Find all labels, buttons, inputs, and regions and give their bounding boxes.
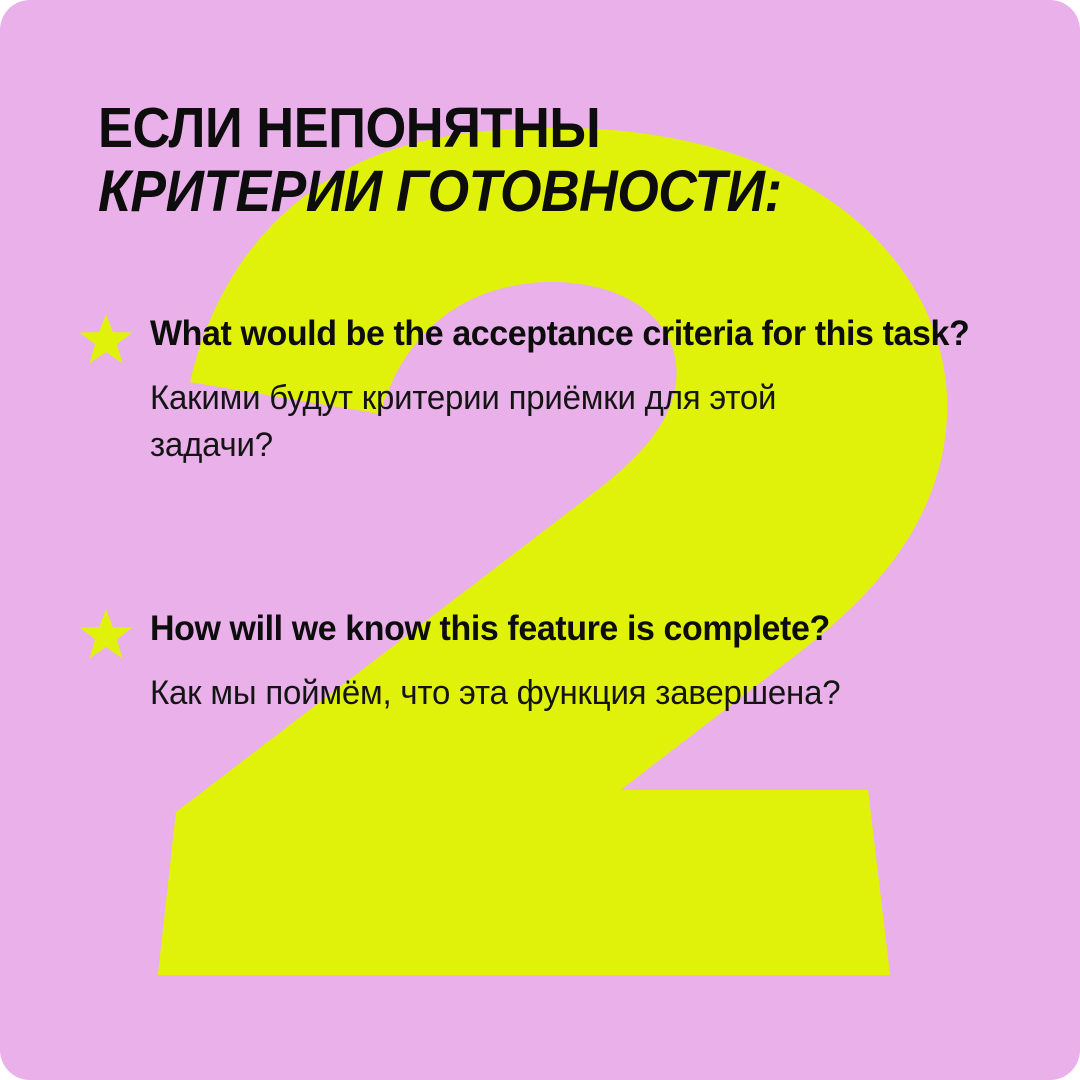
star-icon [78, 607, 134, 663]
star-icon [78, 312, 134, 368]
question-english: How will we know this feature is complet… [150, 605, 1004, 652]
question-russian: Какими будут критерии приёмки для этой з… [150, 375, 887, 469]
title-line-2: КРИТЕРИИ ГОТОВНОСТИ: [98, 160, 926, 224]
page-title: ЕСЛИ НЕПОНЯТНЫ КРИТЕРИИ ГОТОВНОСТИ: [98, 96, 998, 224]
question-text-group: What would be the acceptance criteria fo… [150, 310, 1048, 469]
question-english: What would be the acceptance criteria fo… [150, 310, 1004, 357]
question-item: What would be the acceptance criteria fo… [78, 310, 1048, 469]
title-line-1: ЕСЛИ НЕПОНЯТНЫ [98, 96, 926, 160]
card-root: ЕСЛИ НЕПОНЯТНЫ КРИТЕРИИ ГОТОВНОСТИ: What… [0, 0, 1080, 1080]
question-text-group: How will we know this feature is complet… [150, 605, 1048, 717]
question-russian: Как мы поймём, что эта функция завершена… [150, 670, 887, 717]
card-content: ЕСЛИ НЕПОНЯТНЫ КРИТЕРИИ ГОТОВНОСТИ: What… [0, 0, 1080, 1080]
question-item: How will we know this feature is complet… [78, 605, 1048, 717]
